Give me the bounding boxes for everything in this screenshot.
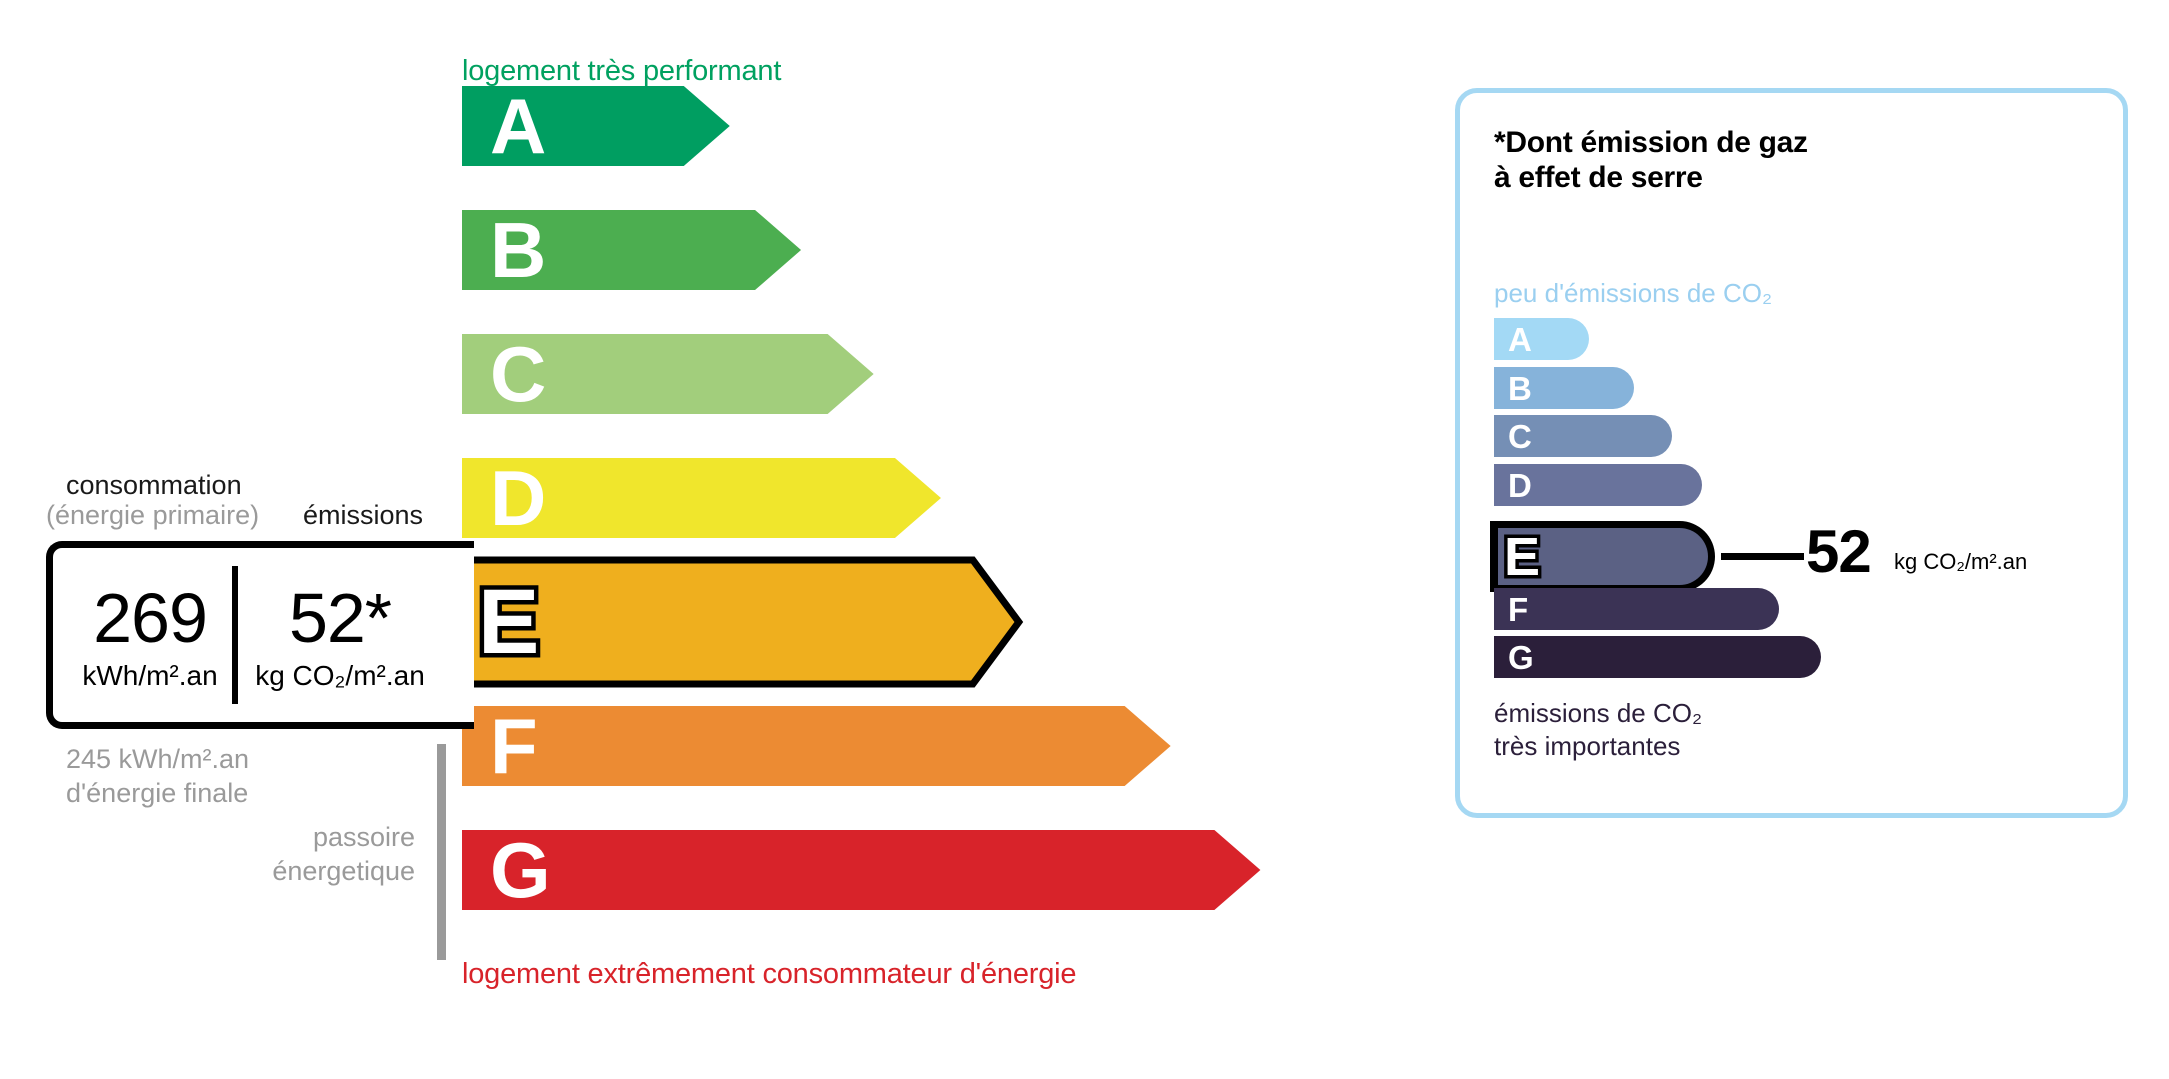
- emissions-value: 52*: [250, 583, 430, 653]
- consumption-header-line2: (énergie primaire): [46, 501, 259, 530]
- ges-bar-letter-b: B: [1508, 372, 1532, 405]
- ges-bar-letter-c: C: [1508, 420, 1532, 453]
- energy-scale-panel: logement très performant consommation (é…: [0, 0, 1400, 1079]
- ges-current-class-letter: E: [1504, 530, 1540, 584]
- consumption-header-line1: consommation: [66, 471, 242, 500]
- energy-bottom-caption: logement extrêmement consommateur d'éner…: [462, 958, 1076, 991]
- ges-bar-letter-d: D: [1508, 469, 1532, 502]
- ges-bar-letter-g: G: [1508, 641, 1534, 674]
- ges-top-caption: peu d'émissions de CO₂: [1494, 278, 1772, 309]
- passoire-note: passoire énergetique: [225, 820, 415, 888]
- emissions-unit: kg CO₂/m².an: [250, 662, 430, 690]
- ges-bar-letter-f: F: [1508, 593, 1528, 626]
- passoire-indicator-bar: [437, 744, 446, 960]
- consumption-value: 269: [60, 583, 240, 653]
- ges-bar-letter-a: A: [1508, 323, 1532, 356]
- band-arrow-shape: [462, 334, 874, 414]
- consumption-unit: kWh/m².an: [60, 662, 240, 690]
- energy-top-caption: logement très performant: [462, 55, 781, 88]
- ges-title: *Dont émission de gaz à effet de serre: [1494, 125, 1808, 195]
- band-arrow-shape: [462, 560, 1019, 684]
- band-arrow-shape: [462, 86, 730, 166]
- band-arrow-shape: [462, 706, 1171, 786]
- band-arrow-shape: [462, 458, 941, 538]
- ges-bar-f: [1494, 588, 1779, 630]
- ges-bottom-caption: émissions de CO₂ très importantes: [1494, 697, 1702, 763]
- band-arrow-shape: [462, 830, 1260, 910]
- band-arrow-shape: [462, 210, 801, 290]
- consumption-value-cell: 269 kWh/m².an: [60, 583, 240, 690]
- emissions-header: émissions: [303, 501, 423, 530]
- emissions-value-cell: 52* kg CO₂/m².an: [250, 583, 430, 690]
- ges-value: 52: [1806, 522, 1871, 582]
- ges-bar-g: [1494, 636, 1821, 678]
- final-energy-note: 245 kWh/m².an d'énergie finale: [66, 742, 249, 810]
- ges-value-unit: kg CO₂/m².an: [1894, 551, 2027, 573]
- ges-callout-line: [1721, 553, 1804, 560]
